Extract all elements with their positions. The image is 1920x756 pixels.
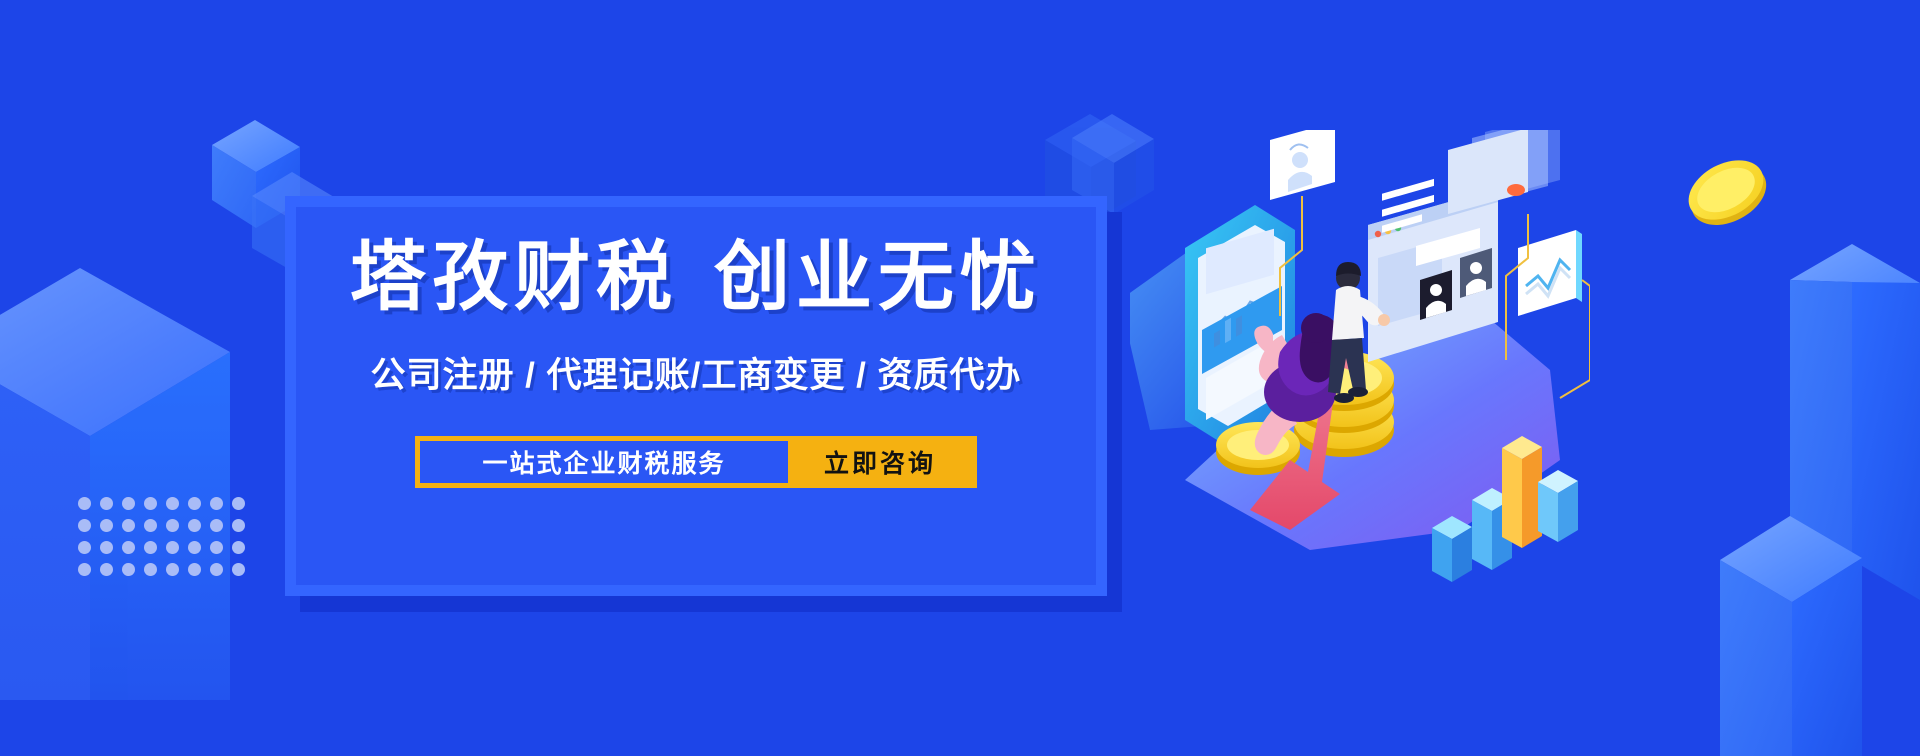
grid-dot: [100, 541, 113, 554]
floating-credit-card: [1448, 130, 1528, 214]
headline-part-1: 塔孜财税: [350, 235, 678, 320]
bar-4: [1538, 470, 1578, 542]
dot-grid-decoration: [78, 497, 254, 585]
grid-dot: [210, 519, 223, 532]
cta-row: 一站式企业财税服务 立即咨询: [415, 436, 977, 488]
grid-dot: [232, 519, 245, 532]
grid-dot: [210, 563, 223, 576]
grid-dot: [122, 519, 135, 532]
promo-banner: 塔孜财税创业无忧 公司注册 / 代理记账/工商变更 / 资质代办 一站式企业财税…: [0, 0, 1920, 756]
bar-3-highlight: [1502, 436, 1542, 548]
headline-part-2: 创业无忧: [714, 235, 1042, 320]
cta-tagline: 一站式企业财税服务: [420, 441, 788, 483]
bar-1: [1432, 516, 1472, 582]
grid-dot: [100, 497, 113, 510]
grid-dot: [210, 541, 223, 554]
grid-dot: [78, 563, 91, 576]
grid-dot: [144, 541, 157, 554]
grid-dot: [188, 541, 201, 554]
gold-coin-right: [1678, 148, 1776, 237]
grid-dot: [144, 497, 157, 510]
grid-dot: [232, 541, 245, 554]
grid-dot: [144, 563, 157, 576]
grid-dot: [166, 563, 179, 576]
consult-now-button[interactable]: 立即咨询: [788, 441, 972, 483]
grid-dot: [122, 563, 135, 576]
grid-dot: [100, 563, 113, 576]
grid-dot: [122, 497, 135, 510]
id-badge-card: [1270, 130, 1335, 200]
grid-dot: [232, 497, 245, 510]
grid-dot: [78, 497, 91, 510]
business-illustration: [1130, 130, 1590, 600]
grid-dot: [78, 519, 91, 532]
headline-text-block: 塔孜财税创业无忧 公司注册 / 代理记账/工商变更 / 资质代办 一站式企业财税…: [285, 196, 1107, 596]
grid-dot: [100, 519, 113, 532]
iso-block-right-lower: [1720, 516, 1862, 756]
grid-dot: [188, 563, 201, 576]
grid-dot: [166, 497, 179, 510]
grid-dot: [166, 541, 179, 554]
iso-block-left: [0, 268, 230, 700]
grid-dot: [78, 541, 91, 554]
grid-dot: [122, 541, 135, 554]
services-subtitle: 公司注册 / 代理记账/工商变更 / 资质代办: [370, 347, 1021, 398]
grid-dot: [232, 563, 245, 576]
grid-dot: [188, 497, 201, 510]
page-title: 塔孜财税创业无忧: [350, 234, 1042, 321]
grid-dot: [210, 497, 223, 510]
grid-dot: [166, 519, 179, 532]
grid-dot: [188, 519, 201, 532]
grid-dot: [144, 519, 157, 532]
